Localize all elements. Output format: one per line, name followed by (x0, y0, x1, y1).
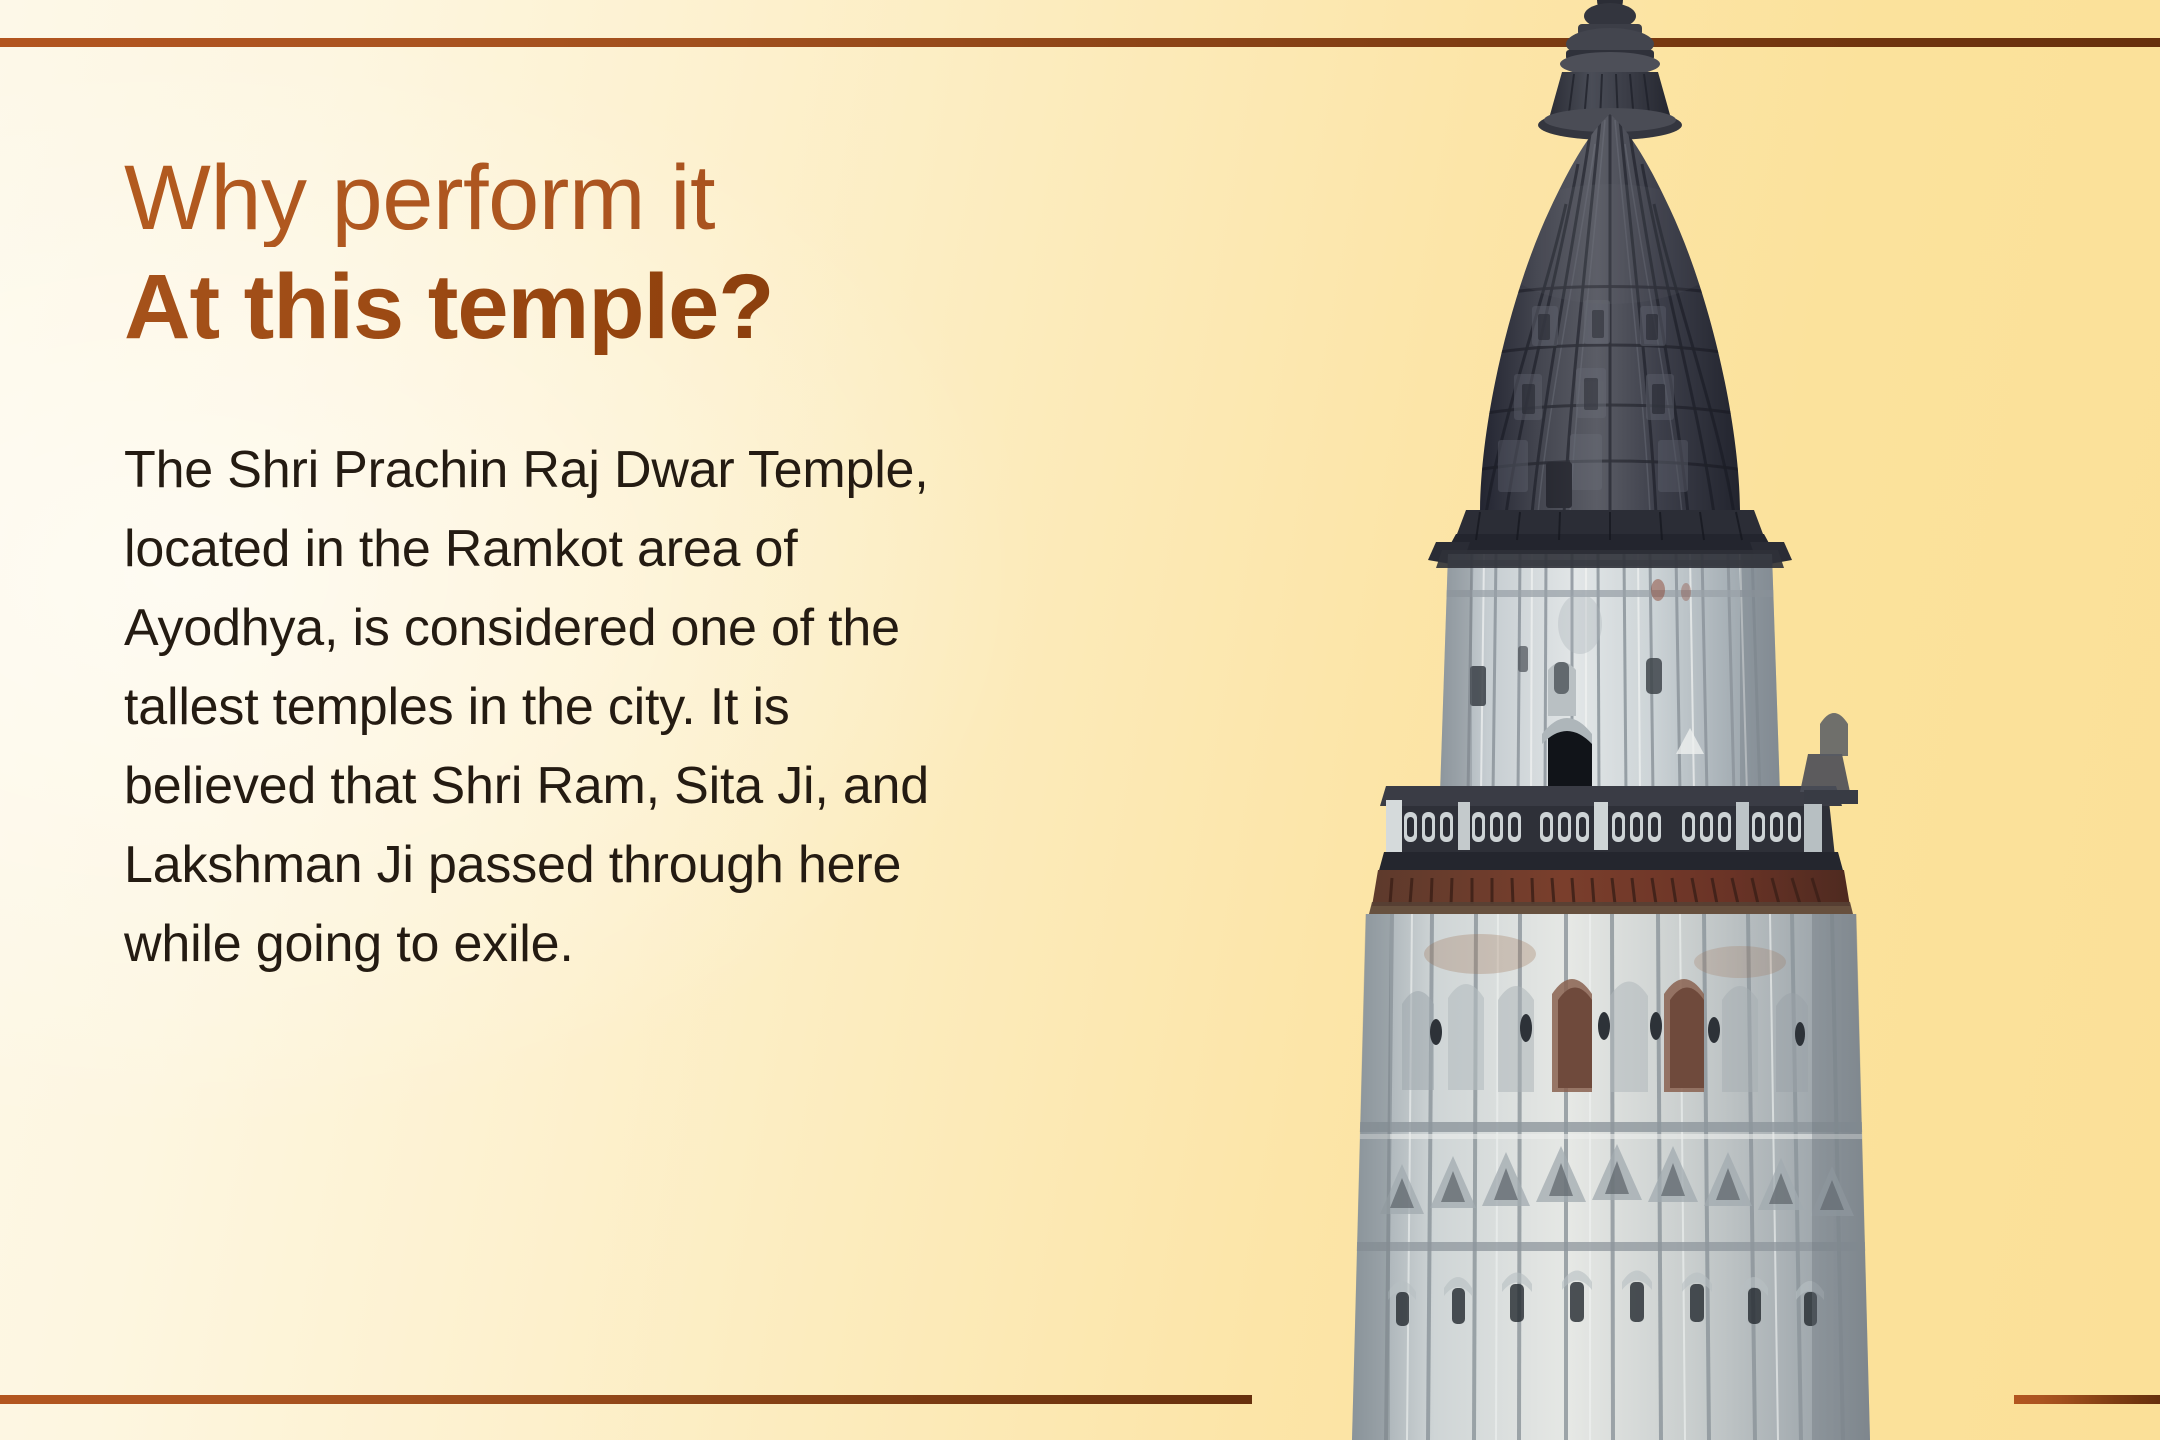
headline-line-2: At this temple? (124, 259, 1084, 356)
text-column: Why perform it At this temple? The Shri … (124, 150, 1084, 984)
info-card: Why perform it At this temple? The Shri … (0, 0, 2160, 1440)
bottom-divider-rule-left (0, 1395, 1252, 1404)
temple-balustrade (1378, 786, 1844, 874)
temple-photo (1180, 0, 2080, 1440)
temple-finial (1560, 0, 1660, 76)
body-paragraph: The Shri Prachin Raj Dwar Temple, locate… (124, 431, 984, 984)
temple-base (1350, 914, 1880, 1440)
temple-side-turret (1800, 713, 1858, 804)
temple-drum (1436, 550, 1786, 820)
headline-line-1: Why perform it (124, 150, 1084, 247)
temple-illustration (1180, 0, 2080, 1440)
page-title: Why perform it At this temple? (124, 150, 1084, 355)
temple-eave-cornice (1368, 870, 1854, 918)
temple-shikhara (1428, 114, 1792, 566)
